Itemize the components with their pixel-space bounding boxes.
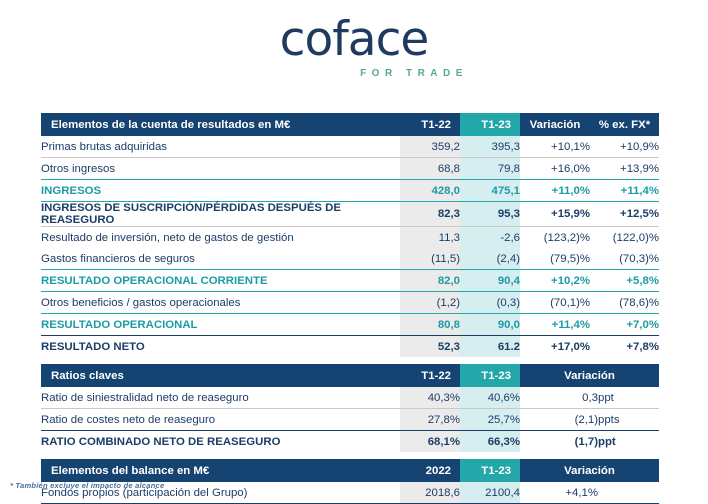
row-unit: ppt [598,387,659,409]
row-value-t1-23: 90,4 [460,270,520,292]
row-value-t1-22: (1,2) [400,292,460,314]
row-value-t1-23: 475,1 [460,180,520,202]
row-value-t1-22: 68,1% [400,431,460,453]
row-value-t1-22: 27,8% [400,409,460,431]
row-value-ex-fx: (70,3)% [590,248,659,270]
ratios-header-label: Ratios claves [41,364,400,387]
row-value-variacion: (70,1)% [520,292,590,314]
income-header-variacion: Variación [520,113,590,136]
coface-logo: coface FOR TRADE [0,0,708,79]
row-value-t1-22: (11,5) [400,248,460,270]
row-label: Resultado de inversión, neto de gastos d… [41,227,400,249]
row-unit: ppt [598,431,659,453]
income-header-t1-23: T1-23 [460,113,520,136]
row-value-variacion: +16,0% [520,158,590,180]
table-row-subtotal: INGRESOS 428,0 475,1 +11,0% +11,4% [41,180,659,202]
row-value-ex-fx: +7,8% [590,336,659,358]
ratios-header-t1-22: T1-22 [400,364,460,387]
row-value-t1-23: 395,3 [460,136,520,158]
income-statement-header-row: Elementos de la cuenta de resultados en … [41,113,659,136]
row-value-ex-fx: (122,0)% [590,227,659,249]
row-value-t1-23: 66,3% [460,431,520,453]
row-value-t1-23: 90,0 [460,314,520,336]
table-row: Ratio de costes neto de reaseguro 27,8% … [41,409,659,431]
row-value-t1-23: 40,6% [460,387,520,409]
section-gap [41,452,659,459]
row-label: RESULTADO NETO [41,336,400,358]
results-table: Elementos de la cuenta de resultados en … [41,113,659,364]
income-header-t1-22: T1-22 [400,113,460,136]
row-value-variacion: +4,1% [520,482,598,504]
table-row: Primas brutas adquiridas 359,2 395,3 +10… [41,136,659,158]
row-label: Primas brutas adquiridas [41,136,400,158]
ratios-body: Ratios claves T1-22 T1-23 Variación Rati… [41,364,659,459]
table-row-subtotal: RESULTADO OPERACIONAL 80,8 90,0 +11,4% +… [41,314,659,336]
ratios-header-variacion: Variación [520,364,659,387]
row-value-variacion: +17,0% [520,336,590,358]
row-value-variacion: (79,5)% [520,248,590,270]
row-unit: ppts [598,409,659,431]
balance-header-row: Elementos del balance en M€ 2022 T1-23 V… [41,459,659,482]
row-label: Otros ingresos [41,158,400,180]
row-value-variacion: +10,2% [520,270,590,292]
row-value-t1-23: -2,6 [460,227,520,249]
row-value-t1-23: 25,7% [460,409,520,431]
ratios-header-t1-23: T1-23 [460,364,520,387]
table-row: Ratio de siniestralidad neto de reasegur… [41,387,659,409]
financial-tables: Elementos de la cuenta de resultados en … [41,113,659,504]
row-value-variacion: +11,0% [520,180,590,202]
row-value-t1-22: 40,3% [400,387,460,409]
table-row-total: RESULTADO NETO 52,3 61.2 +17,0% +7,8% [41,336,659,358]
table-row-total: RATIO COMBINADO NETO DE REASEGURO 68,1% … [41,431,659,453]
row-value-t1-23: (0,3) [460,292,520,314]
ratios-table: Ratios claves T1-22 T1-23 Variación Rati… [41,364,659,459]
balance-header-label: Elementos del balance en M€ [41,459,400,482]
row-value-t1-22: 82,0 [400,270,460,292]
row-label: RESULTADO OPERACIONAL CORRIENTE [41,270,400,292]
row-value-ex-fx: +12,5% [590,202,659,227]
row-value-variacion: (2,1) [520,409,598,431]
income-header-label: Elementos de la cuenta de resultados en … [41,113,400,136]
row-value-ex-fx: +10,9% [590,136,659,158]
row-value-variacion: +11,4% [520,314,590,336]
row-value-t1-23: 79,8 [460,158,520,180]
table-row: Gastos financieros de seguros (11,5) (2,… [41,248,659,270]
row-value-t1-23: (2,4) [460,248,520,270]
logo-tagline: FOR TRADE [0,68,708,79]
row-value-ex-fx: (78,6)% [590,292,659,314]
row-value-t1-22: 428,0 [400,180,460,202]
income-header-ex-fx: % ex. FX* [590,113,659,136]
row-label: RESULTADO OPERACIONAL [41,314,400,336]
row-value-variacion: +15,9% [520,202,590,227]
ratios-header-row: Ratios claves T1-22 T1-23 Variación [41,364,659,387]
row-value-t1-22: 80,8 [400,314,460,336]
footnote: * También excluye el impacto de alcance [10,481,164,490]
row-value-variacion: 0,3 [520,387,598,409]
row-label: Ratio de costes neto de reaseguro [41,409,400,431]
row-label: Gastos financieros de seguros [41,248,400,270]
logo-wordmark: coface [280,16,429,63]
row-value-ex-fx: +11,4% [590,180,659,202]
balance-header-variacion: Variación [520,459,659,482]
row-value-t1-22: 82,3 [400,202,460,227]
row-label: Ratio de siniestralidad neto de reasegur… [41,387,400,409]
balance-header-t1-23: T1-23 [460,459,520,482]
row-value-t1-22: 11,3 [400,227,460,249]
row-value-variacion: (123,2)% [520,227,590,249]
row-value-2022: 2018,6 [400,482,460,504]
row-value-t1-23: 61.2 [460,336,520,358]
row-value-ex-fx: +7,0% [590,314,659,336]
row-label: RATIO COMBINADO NETO DE REASEGURO [41,431,400,453]
row-unit [598,482,659,504]
row-value-variacion: +10,1% [520,136,590,158]
balance-header-2022: 2022 [400,459,460,482]
section-gap [41,357,659,364]
row-value-t1-22: 359,2 [400,136,460,158]
row-label: INGRESOS DE SUSCRIPCIÓN/PÉRDIDAS DESPUÉS… [41,202,400,227]
row-value-t1-23: 2100,4 [460,482,520,504]
table-row-subtotal: RESULTADO OPERACIONAL CORRIENTE 82,0 90,… [41,270,659,292]
table-row: Otros beneficios / gastos operacionales … [41,292,659,314]
table-row: Resultado de inversión, neto de gastos d… [41,227,659,249]
row-value-t1-23: 95,3 [460,202,520,227]
row-value-ex-fx: +5,8% [590,270,659,292]
row-label: Otros beneficios / gastos operacionales [41,292,400,314]
row-label: INGRESOS [41,180,400,202]
table-row-subtotal: INGRESOS DE SUSCRIPCIÓN/PÉRDIDAS DESPUÉS… [41,202,659,227]
row-value-ex-fx: +13,9% [590,158,659,180]
income-statement-body: Elementos de la cuenta de resultados en … [41,113,659,364]
row-value-variacion: (1,7) [520,431,598,453]
table-row: Otros ingresos 68,8 79,8 +16,0% +13,9% [41,158,659,180]
row-value-t1-22: 52,3 [400,336,460,358]
row-value-t1-22: 68,8 [400,158,460,180]
